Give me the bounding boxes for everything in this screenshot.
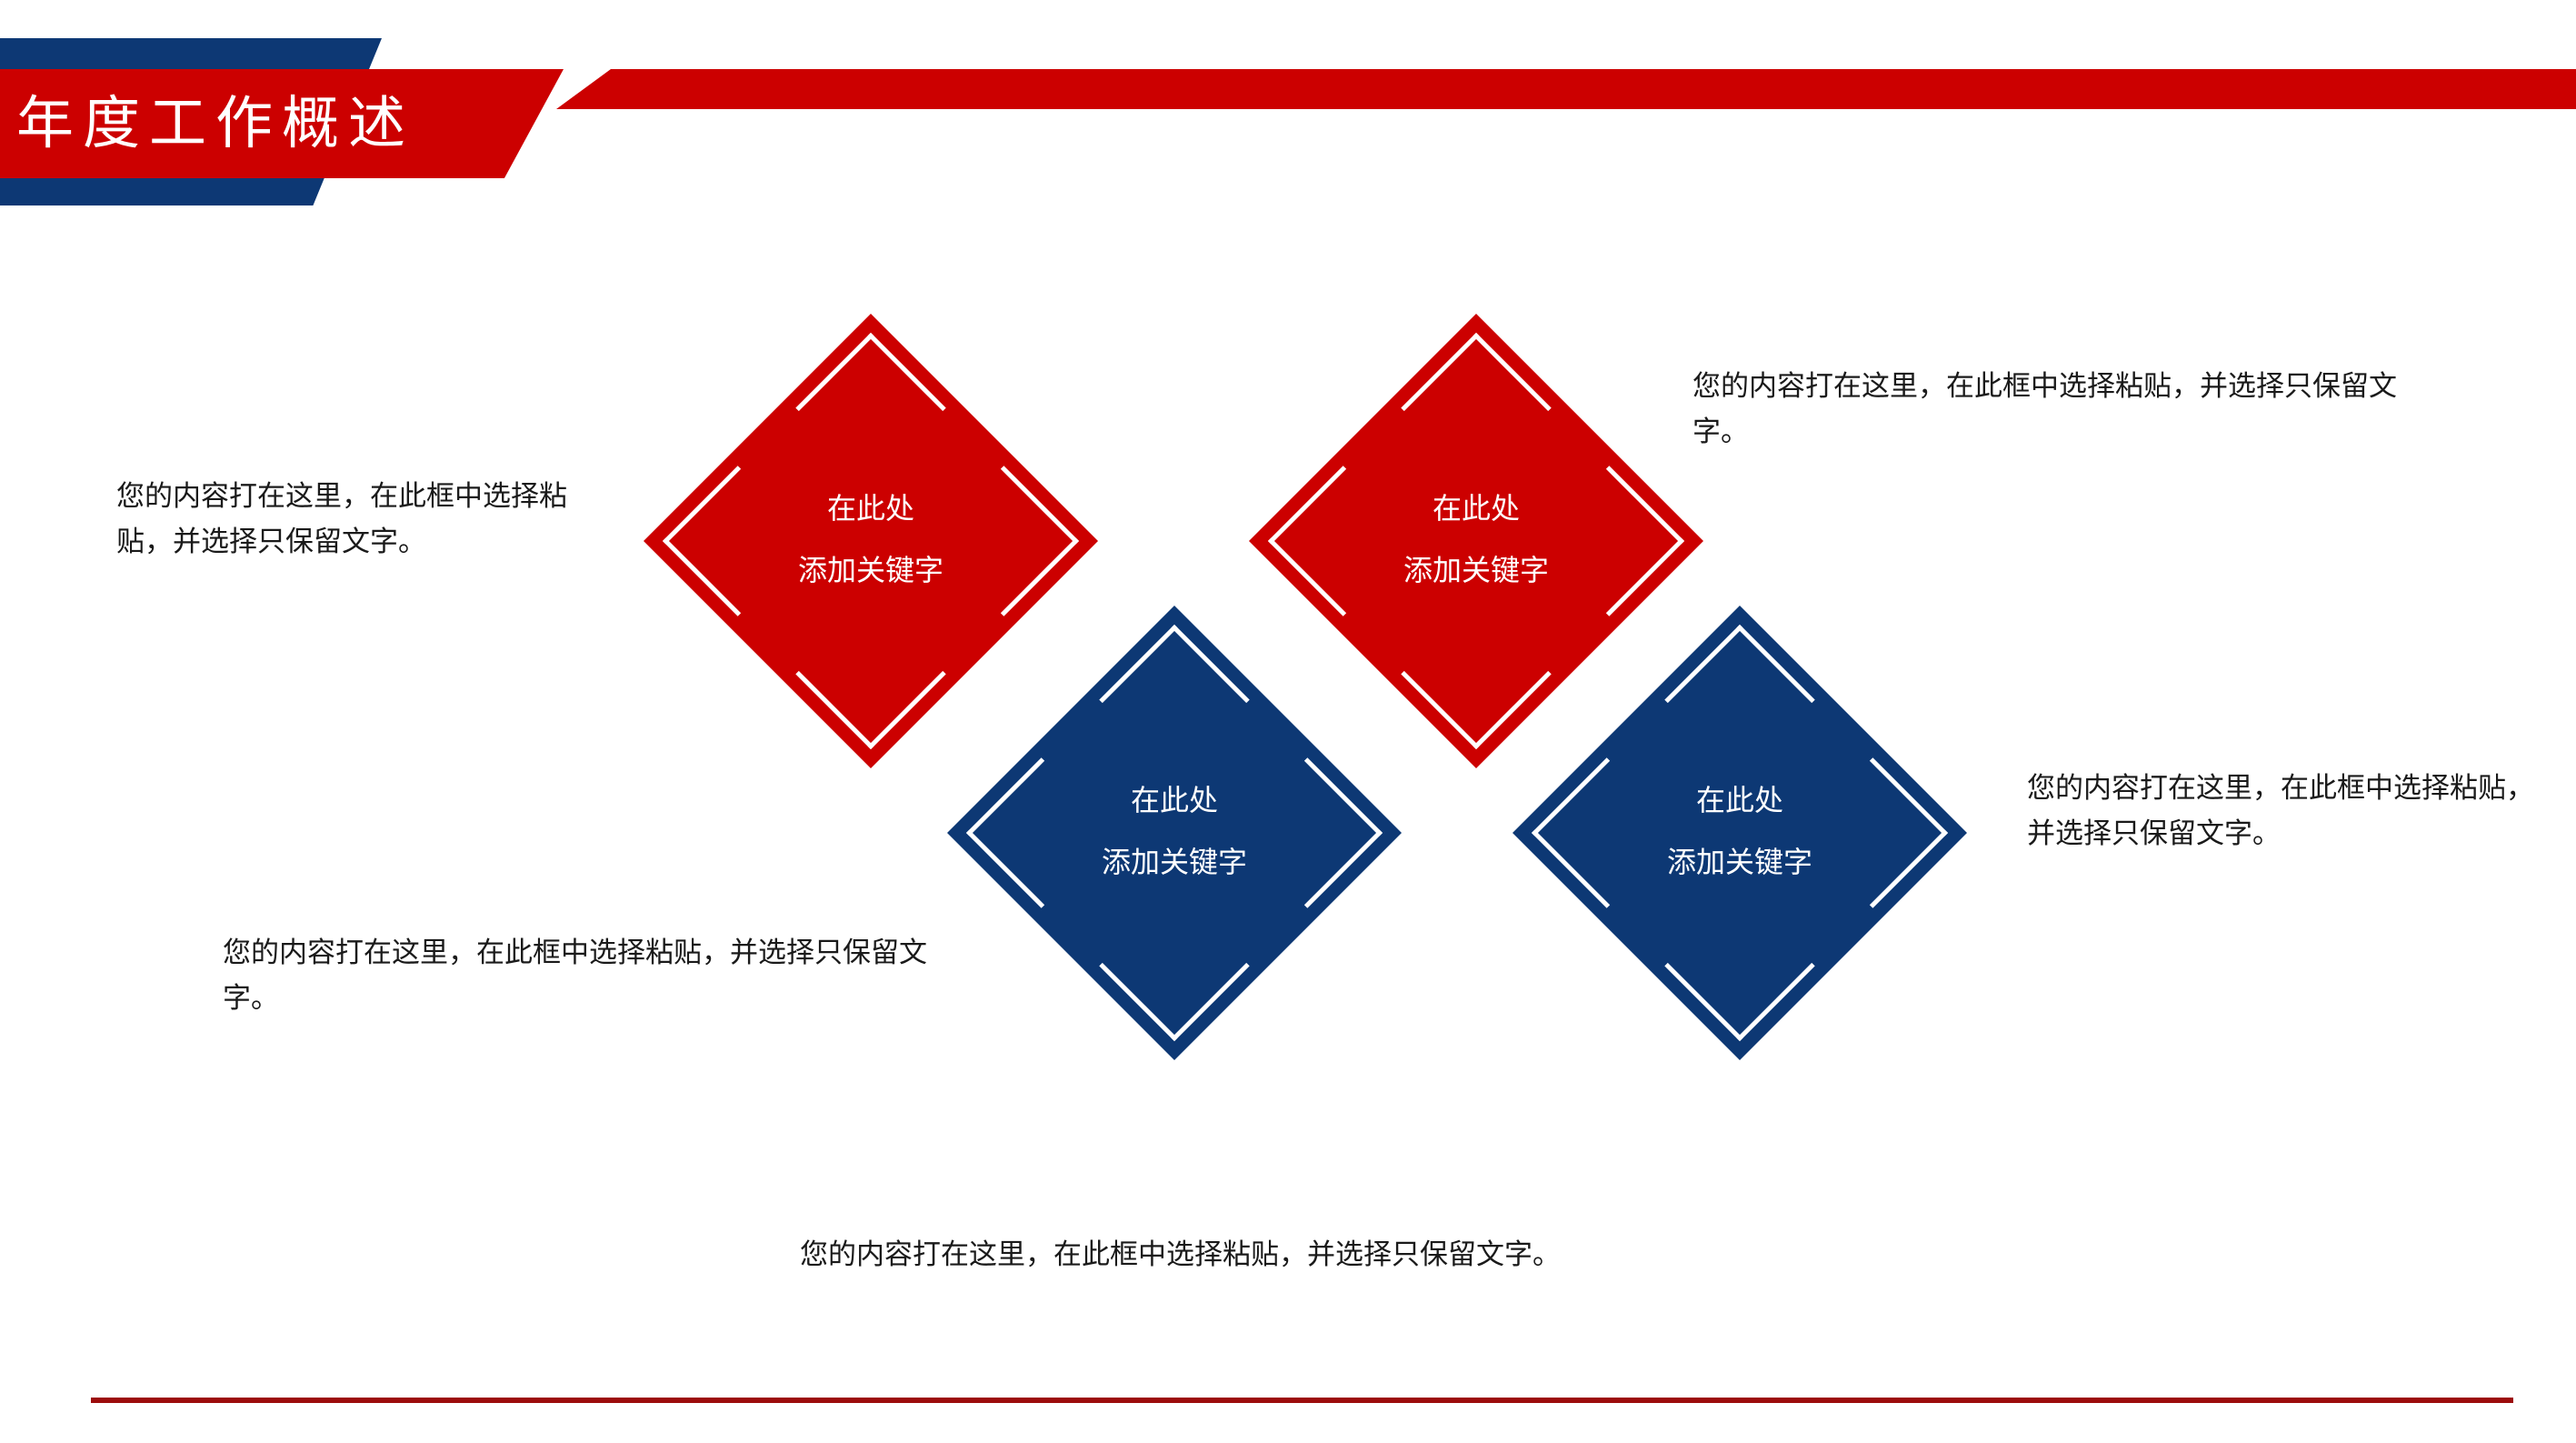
bracket-corner-icon xyxy=(1664,625,1814,775)
bracket-corner-icon xyxy=(1664,891,1814,1041)
bracket-corner-icon xyxy=(795,599,945,749)
paragraph-top-left: 您的内容打在这里，在此框中选择粘贴，并选择只保留文字。 xyxy=(116,474,616,565)
slide-canvas: 年度工作概述 在此处 添加关键字 在此处 添加关键字 xyxy=(0,0,2576,1443)
paragraph-bottom-left: 您的内容打在这里，在此框中选择粘贴，并选择只保留文字。 xyxy=(223,930,959,1021)
diamond-blue-2-bracket-frame xyxy=(1532,625,1948,1041)
bracket-corner-icon xyxy=(1798,757,1948,907)
header-red-rule xyxy=(556,69,2576,109)
diamond-blue-1-bracket-frame xyxy=(966,625,1383,1041)
bracket-corner-icon xyxy=(795,333,945,483)
bracket-corner-icon xyxy=(663,466,813,616)
bracket-corner-icon xyxy=(1268,466,1418,616)
page-title: 年度工作概述 xyxy=(0,69,414,178)
diamond-blue-1[interactable]: 在此处 添加关键字 xyxy=(947,606,1402,1060)
bracket-corner-icon xyxy=(929,466,1079,616)
bracket-corner-icon xyxy=(1099,625,1249,775)
diamond-blue-2[interactable]: 在此处 添加关键字 xyxy=(1513,606,1967,1060)
paragraph-top-right: 您的内容打在这里，在此框中选择粘贴，并选择只保留文字。 xyxy=(1692,364,2429,455)
bracket-corner-icon xyxy=(1401,333,1551,483)
footer-rule xyxy=(91,1398,2513,1403)
bracket-corner-icon xyxy=(966,757,1116,907)
bracket-corner-icon xyxy=(1233,757,1383,907)
bracket-corner-icon xyxy=(1534,466,1684,616)
bracket-corner-icon xyxy=(1099,891,1249,1041)
paragraph-bottom-center: 您的内容打在这里，在此框中选择粘贴，并选择只保留文字。 xyxy=(800,1232,1845,1278)
paragraph-middle-right: 您的内容打在这里，在此框中选择粘贴，并选择只保留文字。 xyxy=(2027,766,2536,857)
bracket-corner-icon xyxy=(1532,757,1682,907)
